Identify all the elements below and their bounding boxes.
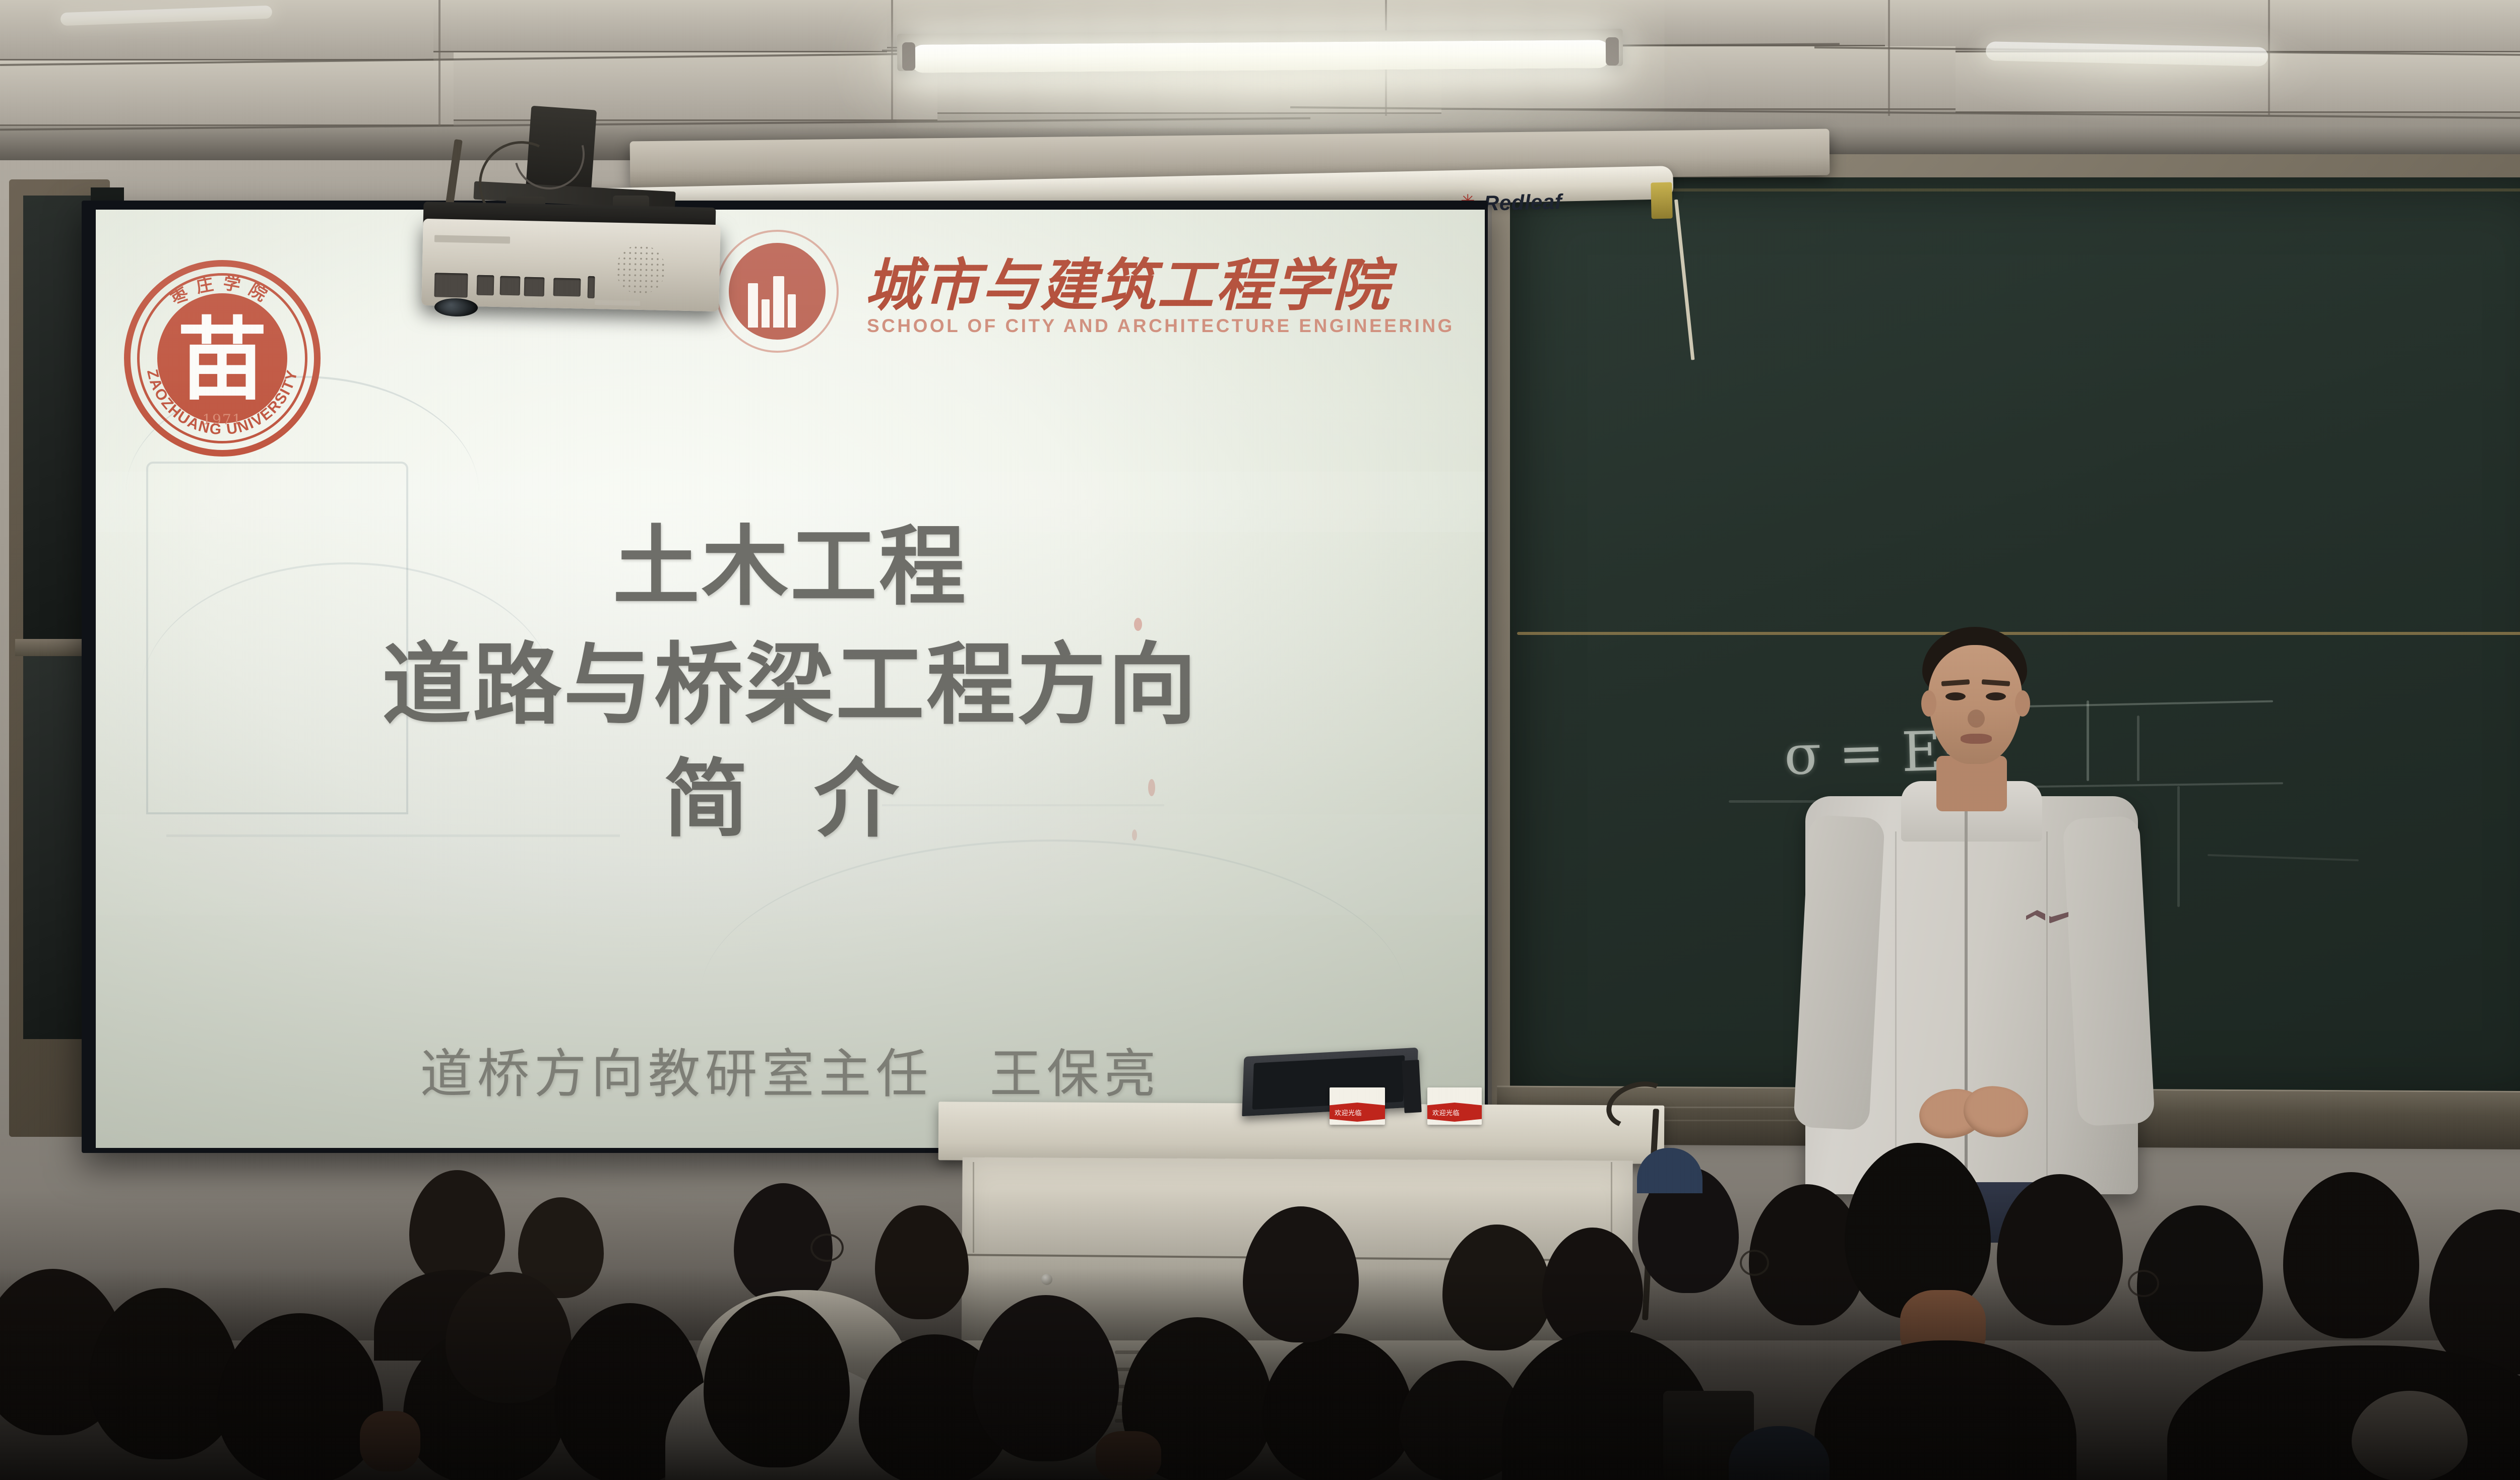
- audience-neck: [1096, 1431, 1161, 1480]
- projector-port: [588, 276, 595, 298]
- projection-screen[interactable]: 苗 1971 ZAOZHUANG UNIVERSITY 枣庄学院: [96, 210, 1485, 1148]
- presenter-eye: [1986, 692, 2006, 700]
- projector-port: [477, 275, 494, 296]
- ceiling-grid-line: [438, 0, 440, 126]
- eyeglasses-icon: [810, 1234, 844, 1262]
- projector-port: [434, 273, 468, 297]
- projector-port: [524, 277, 545, 297]
- ceiling-tile: [433, 0, 887, 52]
- presenter-mouth: [1961, 734, 1992, 744]
- presenter-neck: [1936, 756, 2007, 811]
- presenter-ear: [2015, 690, 2030, 717]
- podium-panel-seam: [973, 1162, 974, 1253]
- eyeglasses-icon: [2128, 1270, 2159, 1297]
- projector-label-strip: [595, 300, 640, 306]
- screen-brand-label: Redleaf: [1484, 189, 1562, 215]
- eyeglasses-icon: [1740, 1250, 1769, 1276]
- presenter-face: [1928, 645, 2022, 764]
- podium-lock-icon[interactable]: [1041, 1274, 1052, 1285]
- presenter-nose: [1968, 710, 1985, 728]
- desk-card-text: 欢迎光临: [1432, 1108, 1460, 1117]
- presenter-arm-right: [2062, 815, 2155, 1126]
- light-glow: [1945, 10, 2328, 126]
- ceiling-grid-line: [1888, 0, 1890, 116]
- presenter-eye: [1945, 692, 1966, 700]
- presenter: [1794, 630, 2157, 1225]
- audience-neck: [360, 1411, 420, 1471]
- chalk-mark: [2177, 786, 2180, 907]
- projector-port: [553, 278, 581, 296]
- presenter-jacket-seam: [1895, 831, 1897, 1184]
- ceiling-tile: [0, 60, 454, 126]
- lecture-hall-photo: σ = E·ε ✳ Redleaf 苗 197: [0, 0, 2520, 1480]
- screen-vignette: [96, 210, 1485, 1148]
- laptop-hinge: [1402, 1060, 1421, 1113]
- presenter-ear: [1921, 690, 1936, 717]
- roller-endcap: [1651, 182, 1672, 219]
- presenter-jacket-seam: [2046, 831, 2048, 1184]
- projector-port: [500, 276, 521, 296]
- desk-card-text: 欢迎光临: [1335, 1108, 1362, 1117]
